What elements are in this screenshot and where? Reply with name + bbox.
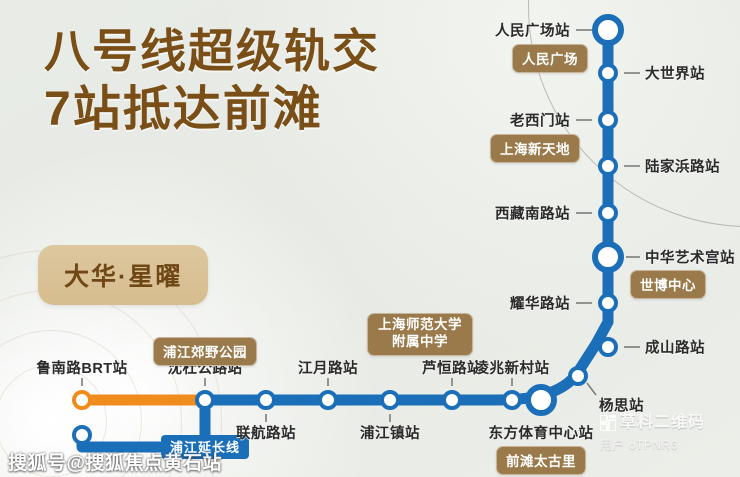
station-badge-xintiandi: 上海新天地 bbox=[490, 134, 580, 163]
watermark-right-user: 用户 oTPNR6 bbox=[600, 436, 730, 453]
station-dot-lujiabang-lu[interactable] bbox=[598, 156, 618, 176]
station-dot-jiangyue-lu[interactable] bbox=[318, 390, 338, 410]
station-dot-renmin-guangchang[interactable] bbox=[592, 14, 624, 46]
station-dot-chengshan-lu[interactable] bbox=[598, 337, 618, 357]
station-badge-pujiang-jiaoye-gongyuan: 浦江郊野公园 bbox=[153, 337, 257, 366]
station-label-dongfang-tiyu-zhongxin: 东方体育中心站 bbox=[489, 422, 594, 443]
school-badge-line-1: 上海师范大学 bbox=[378, 317, 462, 334]
station-label-laoximen: 老西门站 bbox=[510, 110, 570, 131]
station-badge-shibo-zhongxin: 世博中心 bbox=[630, 270, 706, 299]
station-dot-lingzhao-xincun[interactable] bbox=[502, 390, 522, 410]
station-label-renmin-guangchang: 人民广场站 bbox=[495, 20, 570, 41]
station-badge-renmin-guangchang: 人民广场 bbox=[512, 44, 588, 73]
station-label-lingzhao-xincun: 凌兆新村站 bbox=[475, 357, 550, 378]
station-label-luheng-lu: 芦恒路站 bbox=[422, 357, 482, 378]
station-label-chengshan-lu: 成山路站 bbox=[645, 337, 705, 358]
station-label-jiangyue-lu: 江月路站 bbox=[298, 357, 358, 378]
station-label-dashijie: 大世界站 bbox=[645, 63, 705, 84]
station-dot-extension-terminus[interactable] bbox=[72, 425, 92, 445]
station-dot-lunan-lu-brt[interactable] bbox=[72, 390, 92, 410]
station-dot-lianhang-lu[interactable] bbox=[256, 390, 276, 410]
watermark-right-text: 草料二维码 bbox=[620, 414, 705, 431]
station-dot-yangsi[interactable] bbox=[568, 366, 588, 386]
station-dot-luheng-lu[interactable] bbox=[442, 390, 462, 410]
station-label-yaohua-lu: 耀华路站 bbox=[510, 293, 570, 314]
station-label-pujiang-zhen: 浦江镇站 bbox=[360, 422, 420, 443]
station-label-lunan-lu-brt: 鲁南路BRT站 bbox=[36, 357, 127, 378]
station-label-zhonghua-yishugong: 中华艺术宫站 bbox=[645, 247, 735, 268]
station-dot-shendu-gonglu[interactable] bbox=[195, 390, 215, 410]
station-label-lianhang-lu: 联航路站 bbox=[236, 422, 296, 443]
school-badge-line-2: 附属中学 bbox=[378, 334, 462, 351]
station-dot-laoximen[interactable] bbox=[598, 110, 618, 130]
watermark-right: 草料二维码 用户 oTPNR6 bbox=[600, 408, 730, 453]
watermark-left: 搜狐号@搜狐焦点黄石站 bbox=[8, 448, 222, 475]
station-label-lujiabang-lu: 陆家浜路站 bbox=[645, 156, 720, 177]
station-dot-dongfang-tiyu-zhongxin[interactable] bbox=[525, 384, 557, 416]
qr-code-icon bbox=[600, 415, 616, 431]
metro-map: 人民广场站 人民广场 大世界站 老西门站 上海新天地 陆家浜路站 西藏南路站 中… bbox=[0, 0, 740, 477]
watermark-right-title: 草料二维码 bbox=[600, 408, 730, 432]
station-dot-xizang-nan-lu[interactable] bbox=[598, 203, 618, 223]
station-badge-shishi-fuzhong: 上海师范大学 附属中学 bbox=[367, 313, 473, 356]
poster-canvas: 八号线超级轨交 7站抵达前滩 大华·星曜 bbox=[0, 0, 740, 477]
station-dot-pujiang-zhen[interactable] bbox=[380, 390, 400, 410]
station-dot-dashijie[interactable] bbox=[598, 63, 618, 83]
station-badge-qiantan-taiguli: 前滩太古里 bbox=[496, 446, 586, 475]
station-dot-zhonghua-yishugong[interactable] bbox=[592, 241, 624, 273]
station-dot-yaohua-lu[interactable] bbox=[598, 293, 618, 313]
station-label-xizang-nan-lu: 西藏南路站 bbox=[495, 203, 570, 224]
